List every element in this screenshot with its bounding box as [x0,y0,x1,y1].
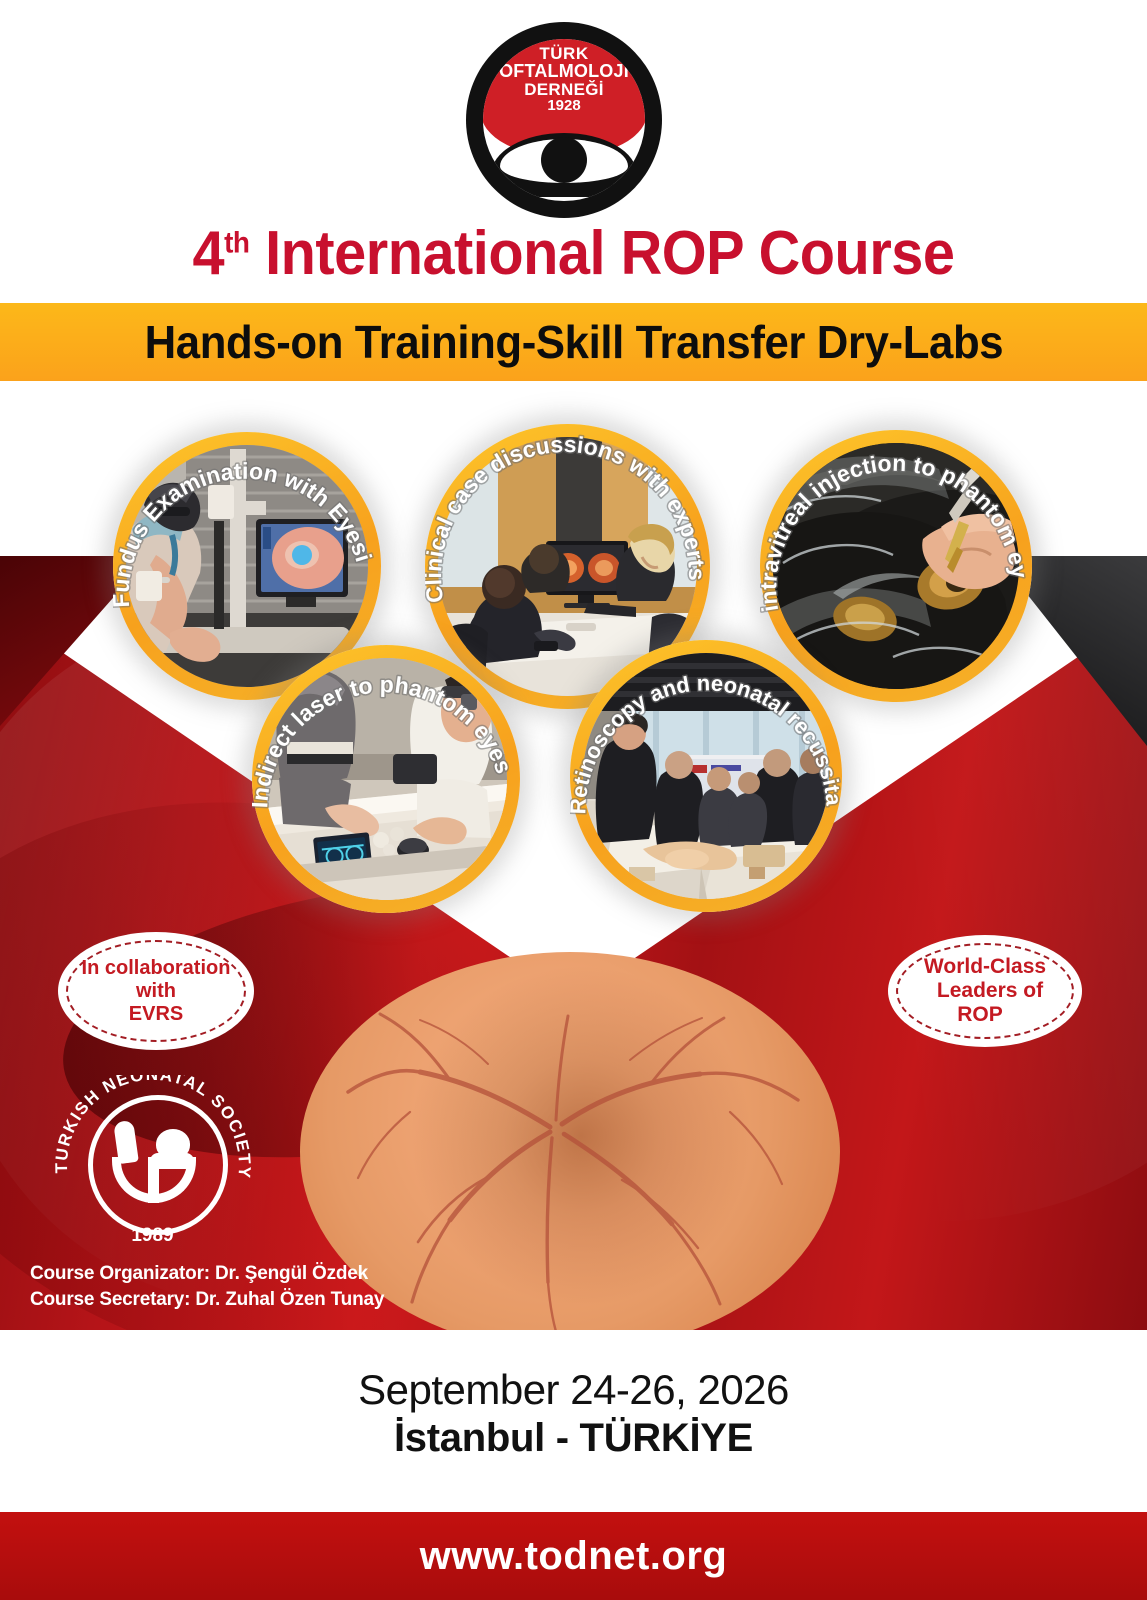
badge-line-1: World-Class [914,955,1056,978]
association-logo: TÜRK OFTALMOLOJI DERNEĞİ 1928 [466,22,662,218]
photo-circle-indirect-laser: Indirect laser to phantom eyes [252,645,520,913]
poster-root: TÜRK OFTALMOLOJI DERNEĞİ 1928 4th Intern… [0,0,1147,1600]
turkish-neonatal-society-logo: TURKISH NEONATAL SOCIETY 1989 [50,1075,255,1250]
course-organizer: Course Organizator: Dr. Şengül Özdek [30,1261,384,1287]
badge-leaders: World-Class Leaders of ROP [888,935,1082,1047]
page-subtitle: Hands-on Training-Skill Transfer Dry-Lab… [144,315,1003,369]
tns-baby-body [150,1153,194,1169]
event-details: September 24-26, 2026 İstanbul - TÜRKİYE [0,1366,1147,1461]
badge-collaboration: In collaboration with EVRS [58,932,254,1050]
footer-bar: www.todnet.org [0,1512,1147,1600]
circle-photo [265,658,507,900]
logo-text: TÜRK OFTALMOLOJI DERNEĞİ 1928 [483,45,645,113]
title-ordinal-suffix: th [224,226,249,259]
eye-icon [491,133,637,195]
organizer-info: Course Organizator: Dr. Şengül Özdek Cou… [30,1261,384,1312]
course-secretary: Course Secretary: Dr. Zuhal Özen Tunay [30,1287,384,1313]
subtitle-band: Hands-on Training-Skill Transfer Dry-Lab… [0,303,1147,381]
page-title: 4th International ROP Course [40,218,1107,289]
logo-line-2: OFTALMOLOJI [483,62,645,80]
logo-line-1: TÜRK [483,45,645,62]
logo-inner: TÜRK OFTALMOLOJI DERNEĞİ 1928 [483,39,645,201]
badge-line-2: Leaders of ROP [927,979,1043,1026]
badge-line-2: with [126,980,186,1002]
title-main: International ROP Course [250,219,955,288]
badge-line-1: In collaboration [72,957,241,979]
scene-fundus-exam [126,445,368,687]
scene-retinoscopy-neonatal [583,653,829,899]
logo-line-3: DERNEĞİ [483,81,645,98]
title-ordinal: 4 [192,219,224,288]
tns-founding-year: 1989 [50,1225,255,1247]
tns-emblem [112,1117,196,1203]
badge-line-3: EVRS [119,1003,193,1025]
scene-indirect-laser [265,658,507,900]
event-date: September 24-26, 2026 [0,1366,1147,1414]
photo-circle-retinoscopy-neonatal: Retinoscopy and neonatal recussitation [570,640,842,912]
website-url[interactable]: www.todnet.org [420,1534,728,1579]
circle-photo [583,653,829,899]
event-location: İstanbul - TÜRKİYE [0,1416,1147,1461]
circle-photo [126,445,368,687]
logo-line-4: 1928 [483,98,645,113]
